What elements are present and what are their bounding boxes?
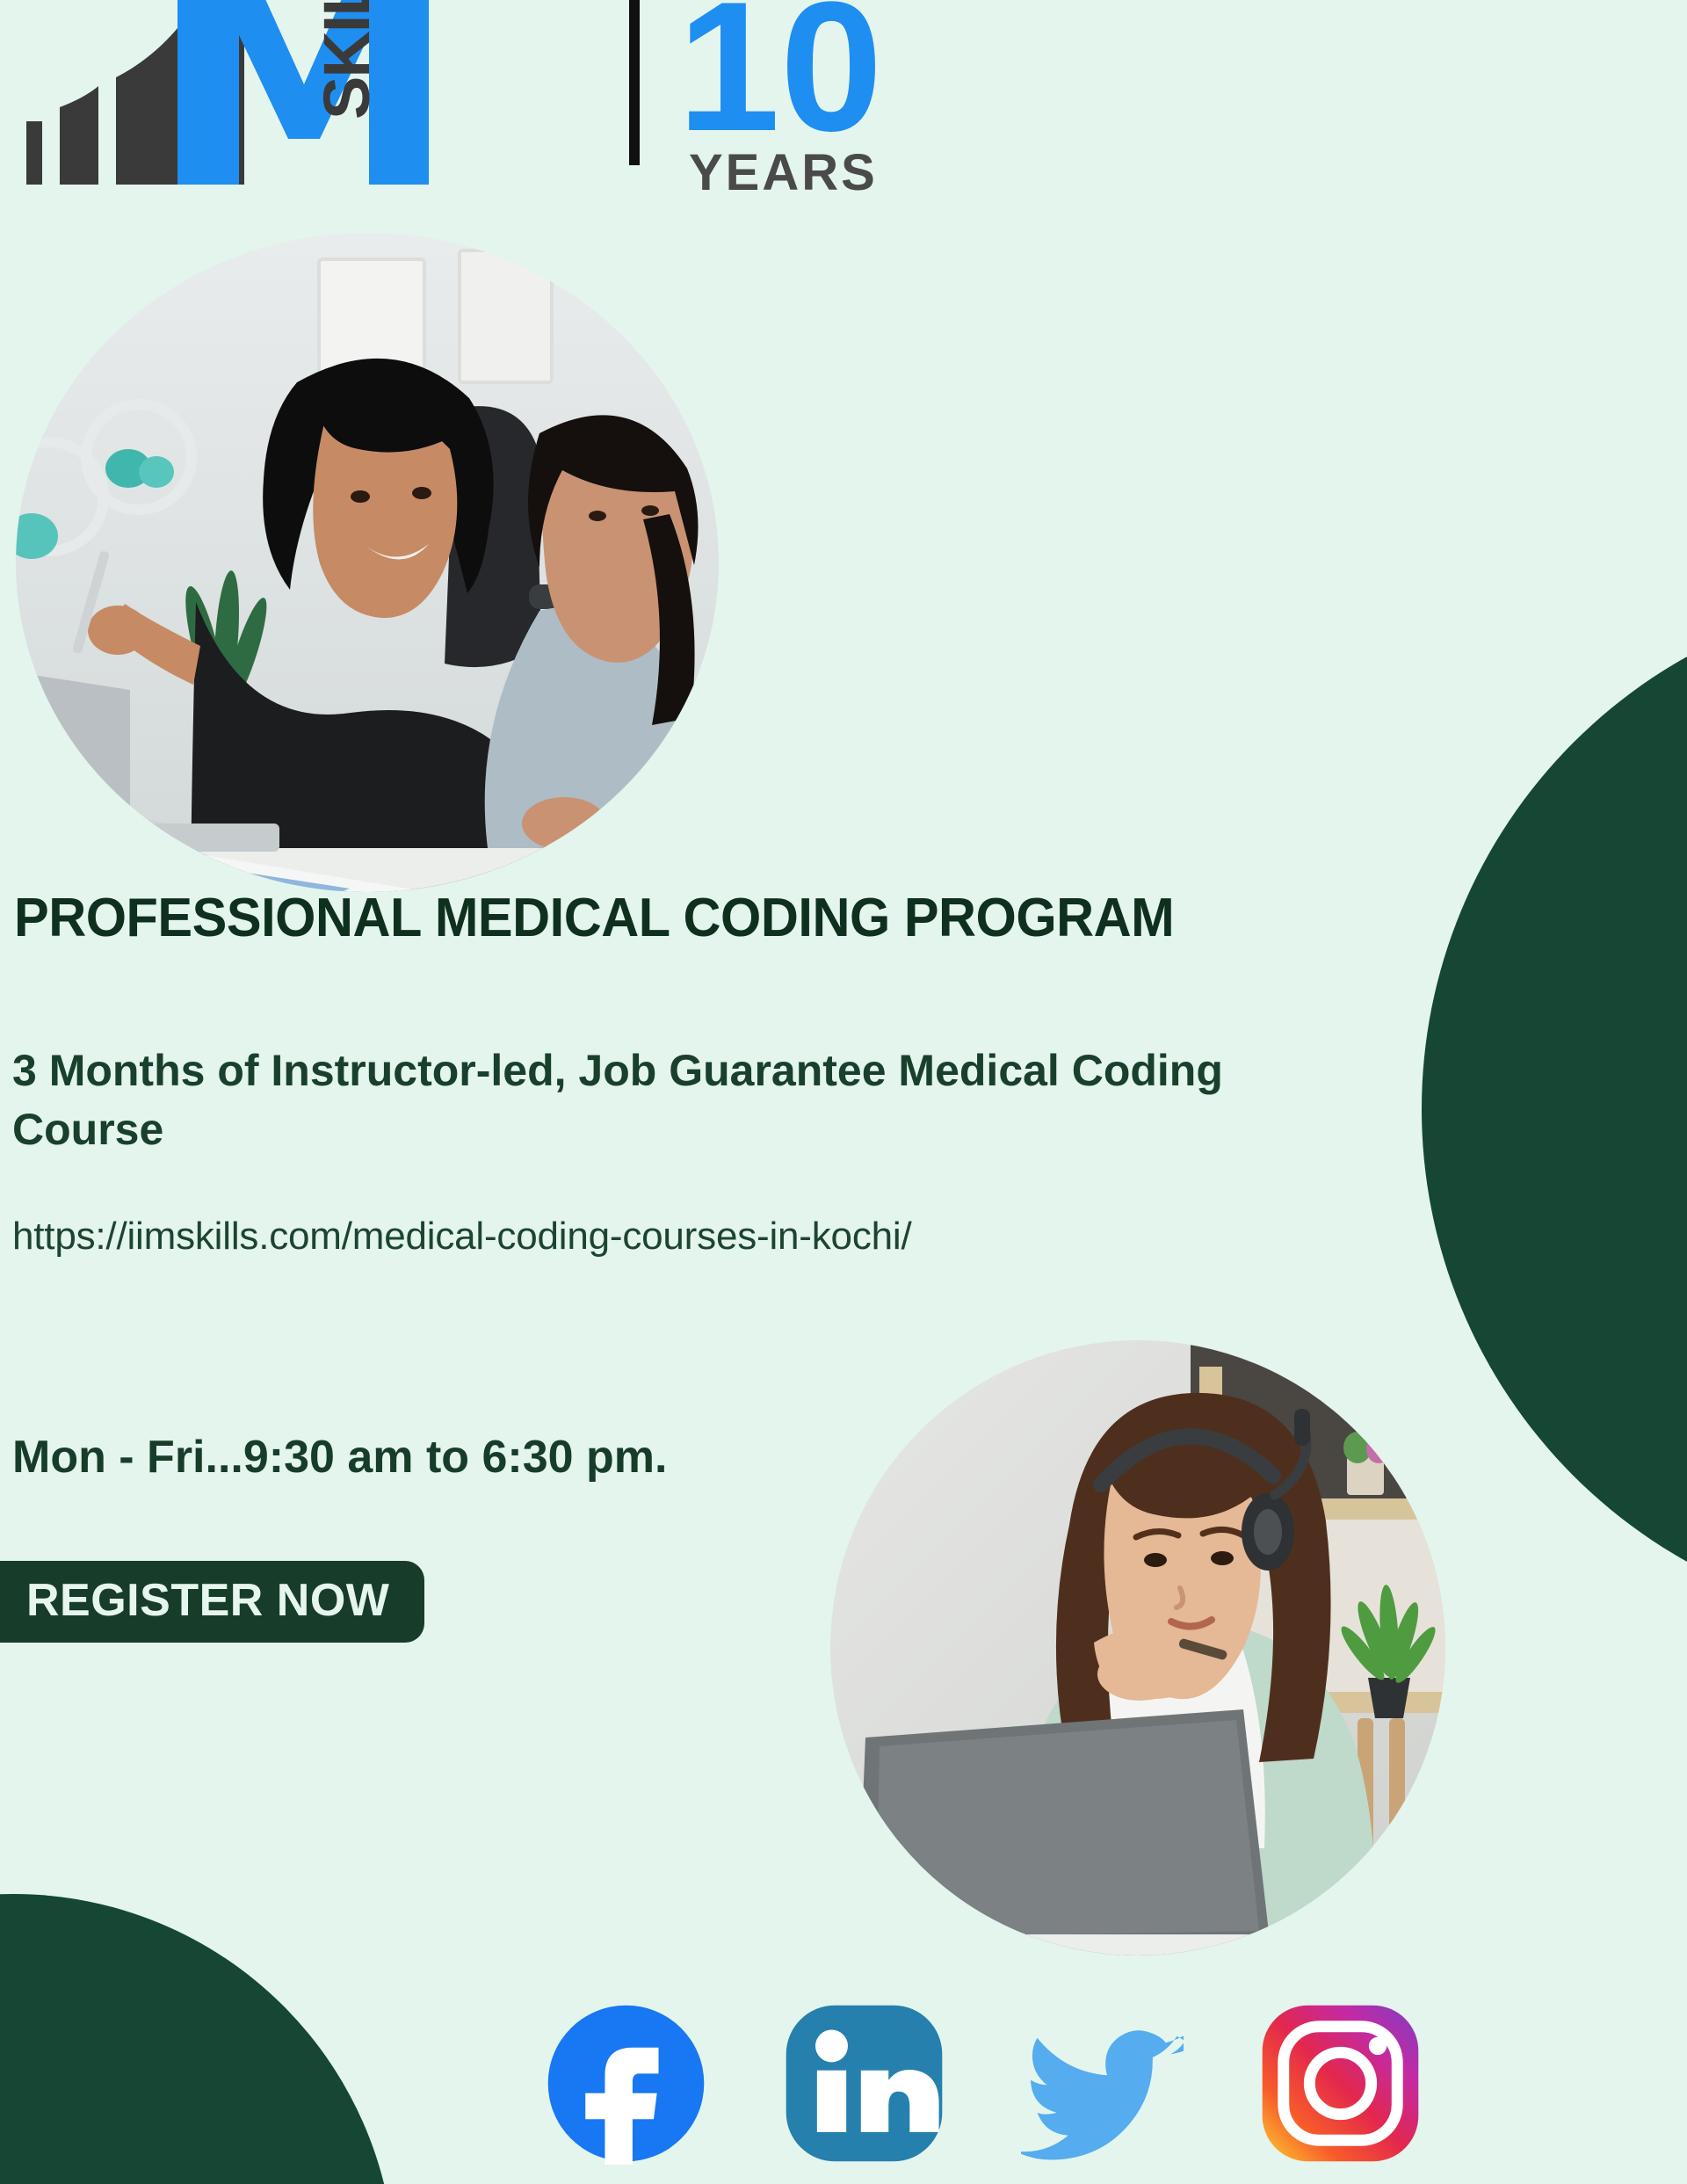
facebook-icon[interactable] [545,2002,707,2165]
svg-text:SKILLS: SKILLS [310,0,383,120]
two-women-at-desk-photo [16,233,719,892]
logo-divider [629,0,640,165]
course-url[interactable]: https://iimskills.com/medical-coding-cou… [12,1215,1330,1259]
woman-with-headset-photo [830,1340,1445,1955]
subtitle: 3 Months of Instructor-led, Job Guarante… [12,1041,1260,1158]
timing-text: Mon - Fri...9:30 am to 6:30 pm. [12,1431,667,1484]
poster-root: SKILLS 10 YEARS [0,0,1687,2184]
decorative-circle-bottom-left [0,1894,395,2184]
social-links [545,1999,1625,2166]
logo-word-skills: SKILLS [310,0,383,120]
register-now-button[interactable]: REGISTER NOW [0,1561,424,1643]
anniversary-label: YEARS [689,144,878,201]
linkedin-icon[interactable] [783,2002,945,2165]
brand-logo: SKILLS 10 YEARS [14,0,919,234]
page-title: PROFESSIONAL MEDICAL CODING PROGRAM [14,889,1380,947]
logo-letter-m [177,0,429,185]
twitter-icon[interactable] [1021,2002,1184,2165]
instagram-icon[interactable] [1259,2002,1422,2165]
decorative-circle-right [1422,591,1687,1628]
